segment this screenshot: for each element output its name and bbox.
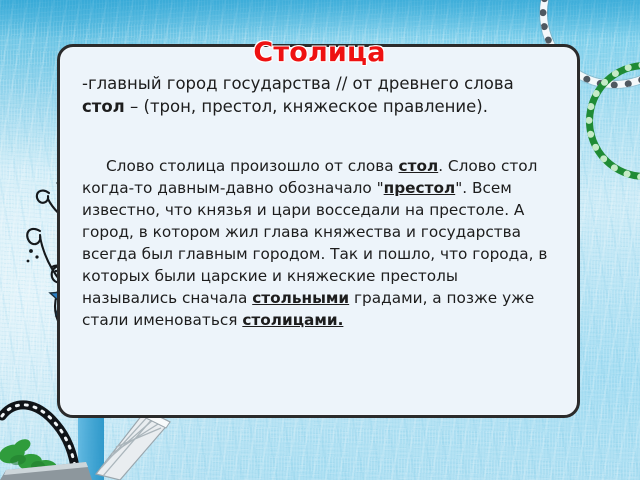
definition-term: стол [82, 97, 125, 116]
slide-canvas: Столица -главный город государства // от… [0, 0, 640, 480]
definition-paragraph: -главный город государства // от древнег… [82, 72, 557, 119]
body-segment-3: . Всем известно, что князья и цари воссе… [82, 179, 547, 307]
quote-open: " [377, 179, 384, 197]
body-paragraph: Слово столица произошло от слова стол. С… [82, 155, 557, 331]
body-bold-prestol: престол [384, 179, 456, 197]
definition-lead: -главный город государства // от древнег… [82, 74, 514, 93]
body-bold-stol: стол [399, 157, 439, 175]
body-segment-1: Слово столица произошло от слова [106, 157, 399, 175]
body-bold-stolnymi: стольными [252, 289, 349, 307]
page-title: Столица [82, 39, 557, 66]
definition-tail: – (трон, престол, княжеское правление). [125, 97, 488, 116]
content-textbox: Столица -главный город государства // от… [57, 44, 580, 418]
body-bold-stolicami: столицами. [242, 311, 343, 329]
content-textbox-inner: Столица -главный город государства // от… [60, 47, 577, 415]
